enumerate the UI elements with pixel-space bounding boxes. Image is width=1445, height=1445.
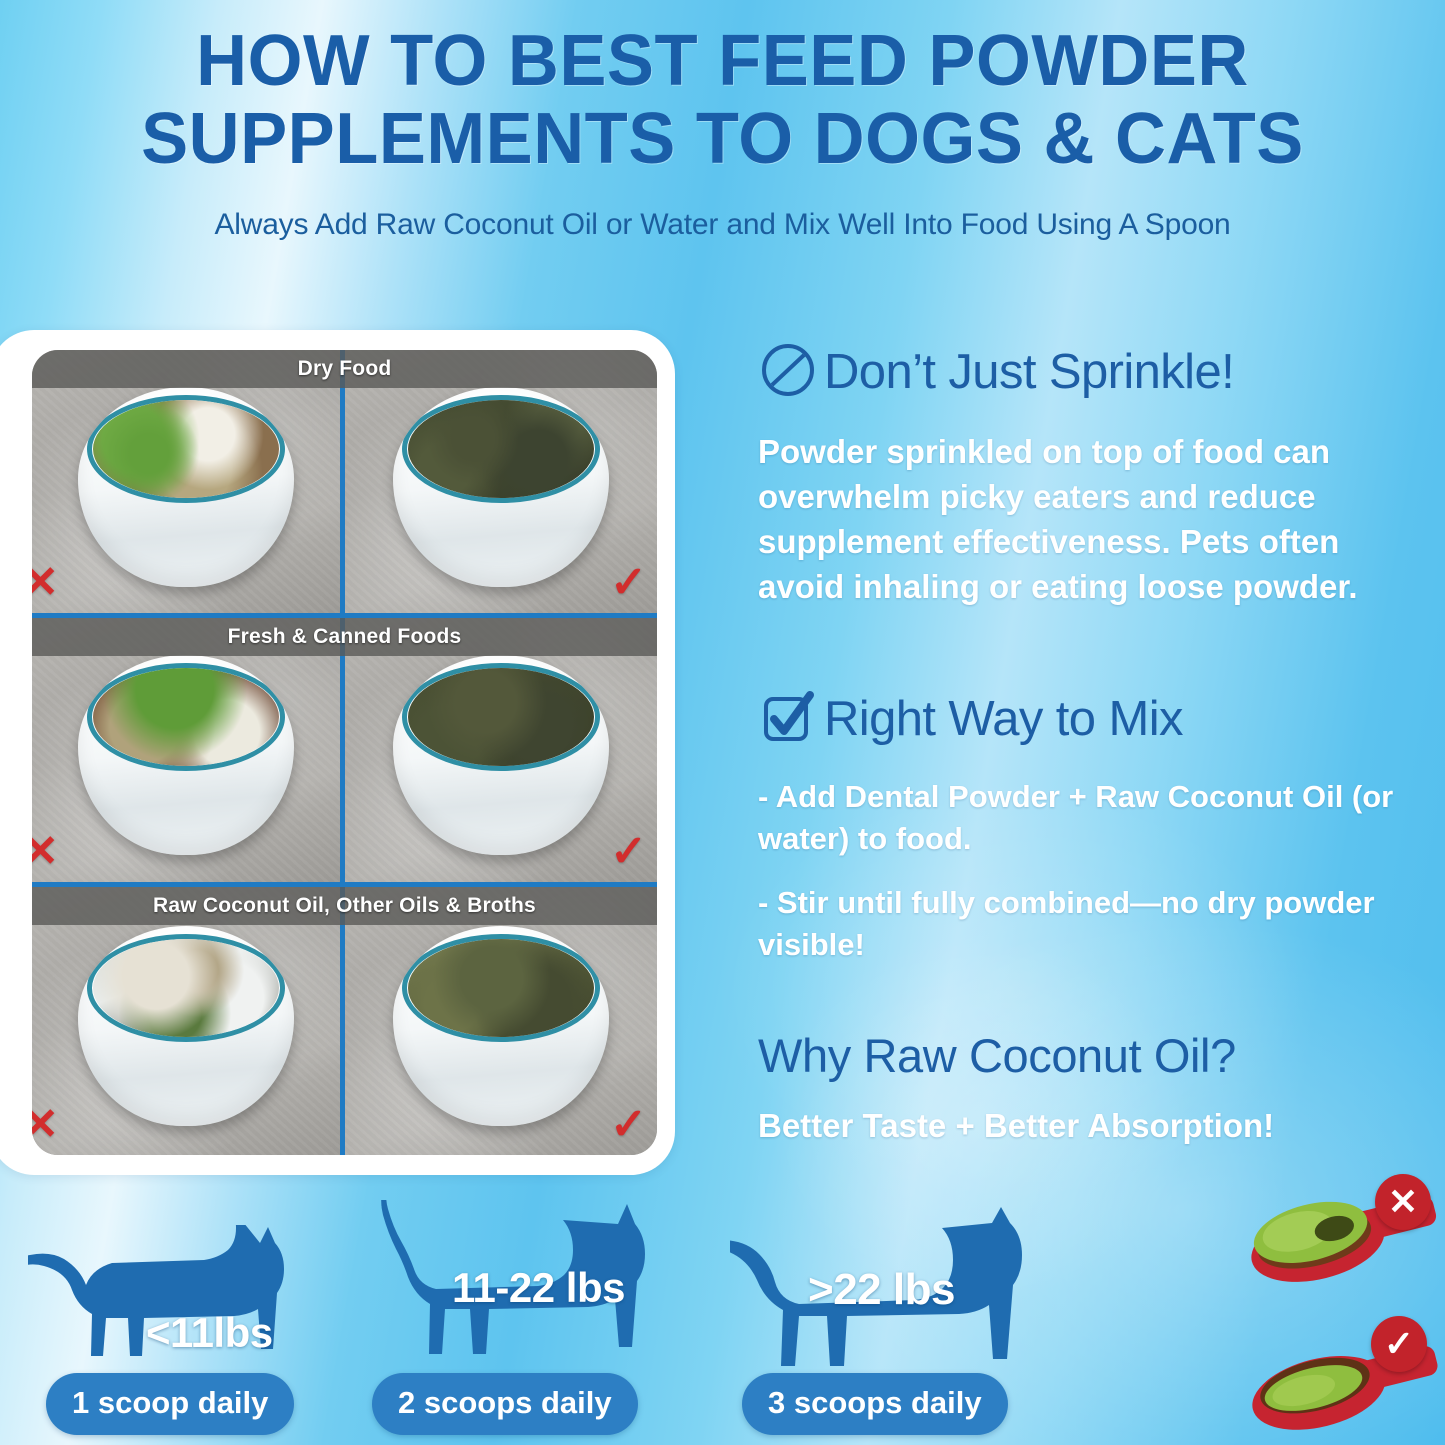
red-x-mark: ✕ <box>32 830 59 874</box>
overfilled-scoop: ✕ <box>1251 1178 1441 1298</box>
photo-cell-oil-mixed: ✓ <box>345 887 658 1155</box>
red-check-mark: ✓ <box>610 1103 647 1147</box>
red-check-mark: ✓ <box>610 830 647 874</box>
dose-item-large: >22 lbs 3 scoops daily <box>730 1205 1060 1435</box>
instructions-column: Don’t Just Sprinkle! Powder sprinkled on… <box>758 340 1418 1145</box>
photo-cell-fresh-unmixed: ✕ <box>32 618 345 881</box>
food-bowl <box>393 655 609 855</box>
row-label-dry-food: Dry Food <box>32 350 657 388</box>
bowl-contents-unmixed <box>93 668 279 766</box>
row-label-oils-broths: Raw Coconut Oil, Other Oils & Broths <box>32 887 657 925</box>
scoop-pill-medium: 2 scoops daily <box>372 1373 638 1435</box>
food-bowl <box>78 655 294 855</box>
right-way-title: Right Way to Mix <box>824 695 1183 744</box>
weight-label-small: <11lbs <box>146 1309 273 1357</box>
food-bowl <box>78 387 294 587</box>
food-bowl <box>393 926 609 1126</box>
food-bowl <box>393 387 609 587</box>
red-x-mark: ✕ <box>32 561 59 605</box>
page-subtitle: Always Add Raw Coconut Oil or Water and … <box>0 208 1445 242</box>
bowl-contents-unmixed <box>93 400 279 498</box>
checkbox-checked-icon <box>758 687 818 752</box>
dose-item-medium: 11-22 lbs 2 scoops daily <box>360 1200 680 1435</box>
photo-cell-oil-unmixed: ✕ <box>32 887 345 1155</box>
photo-row-oils-broths: Raw Coconut Oil, Other Oils & Broths ✕ ✓ <box>32 887 657 1155</box>
weight-label-medium: 11-22 lbs <box>452 1264 625 1312</box>
cat-silhouette-icon: >22 lbs <box>730 1205 1060 1390</box>
scoop-pill-large: 3 scoops daily <box>742 1373 1008 1435</box>
photo-cell-dry-unmixed: ✕ <box>32 350 345 613</box>
weight-label-large: >22 lbs <box>808 1265 955 1315</box>
why-oil-title: Why Raw Coconut Oil? <box>758 1028 1418 1083</box>
section-right-way-heading: Right Way to Mix <box>758 687 1418 752</box>
section-why-oil: Why Raw Coconut Oil? Better Taste + Bett… <box>758 1028 1418 1145</box>
dose-item-small: <11lbs 1 scoop daily <box>28 1225 318 1435</box>
right-way-bullet-1: - Add Dental Powder + Raw Coconut Oil (o… <box>758 776 1418 860</box>
dont-sprinkle-title: Don’t Just Sprinkle! <box>824 348 1234 397</box>
dosage-strip: <11lbs 1 scoop daily 11-22 lbs 2 scoops … <box>0 1180 1250 1445</box>
red-check-mark: ✓ <box>610 561 647 605</box>
scoop-pill-small: 1 scoop daily <box>46 1373 294 1435</box>
no-entry-icon <box>758 340 818 405</box>
cat-silhouette-icon: <11lbs <box>28 1225 318 1385</box>
photo-cell-fresh-mixed: ✓ <box>345 618 658 881</box>
photo-comparison-panel: Dry Food ✕ ✓ Fresh & <box>0 330 675 1175</box>
photo-grid: Dry Food ✕ ✓ Fresh & <box>32 350 657 1155</box>
check-badge: ✓ <box>1371 1316 1427 1372</box>
bowl-contents-mixed <box>408 400 594 498</box>
title-line-2: SUPPLEMENTS TO DOGS & CATS <box>14 100 1430 178</box>
header: HOW TO BEST FEED POWDER SUPPLEMENTS TO D… <box>0 0 1445 300</box>
cat-silhouette-icon: 11-22 lbs <box>360 1200 680 1385</box>
x-badge: ✕ <box>1375 1174 1431 1230</box>
bowl-contents-mixed <box>408 668 594 766</box>
food-bowl <box>78 926 294 1126</box>
row-label-fresh-canned: Fresh & Canned Foods <box>32 618 657 656</box>
bowl-contents-mixed <box>408 939 594 1037</box>
infographic-page: HOW TO BEST FEED POWDER SUPPLEMENTS TO D… <box>0 0 1445 1445</box>
title-line-1: HOW TO BEST FEED POWDER <box>14 22 1430 100</box>
bowl-contents-unmixed <box>93 939 279 1037</box>
level-scoop: ✓ <box>1251 1322 1441 1442</box>
page-title: HOW TO BEST FEED POWDER SUPPLEMENTS TO D… <box>14 0 1430 178</box>
photo-cell-dry-mixed: ✓ <box>345 350 658 613</box>
photo-row-dry-food: Dry Food ✕ ✓ <box>32 350 657 618</box>
dont-sprinkle-body: Powder sprinkled on top of food can over… <box>758 429 1418 609</box>
section-dont-sprinkle-heading: Don’t Just Sprinkle! <box>758 340 1418 405</box>
red-x-mark: ✕ <box>32 1103 59 1147</box>
why-oil-subtext: Better Taste + Better Absorption! <box>758 1107 1418 1145</box>
right-way-bullet-2: - Stir until fully combined—no dry powde… <box>758 882 1418 966</box>
photo-row-fresh-canned: Fresh & Canned Foods ✕ ✓ <box>32 618 657 886</box>
